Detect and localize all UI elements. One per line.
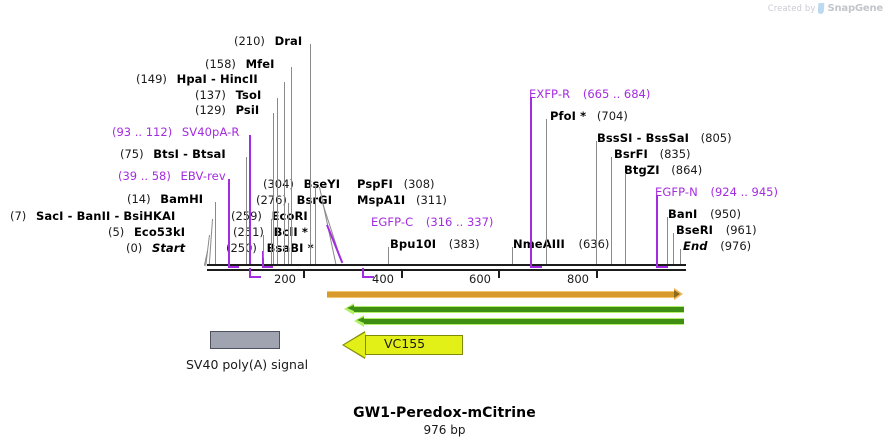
feature-name: EXFP-R (529, 87, 570, 101)
enzyme-position: (5) (108, 225, 124, 239)
enzyme-name: BtsI - BtsaI (153, 147, 226, 161)
feature-position: (316 .. 337) (426, 215, 494, 229)
ruler-label-200: 200 (274, 272, 296, 286)
marker-name: Start (152, 241, 185, 255)
enzyme-position: (704) (597, 109, 628, 123)
enzyme-position: (158) (205, 57, 236, 71)
marker-position: (976) (720, 239, 751, 253)
leader-line-PfoI (546, 119, 547, 266)
enzyme-label-HpaI-HincII[interactable]: (149) HpaI - HincII (136, 73, 258, 85)
feature-bracket-SV40pA-R[interactable] (249, 268, 261, 278)
ruler-tick-200 (303, 271, 305, 278)
enzyme-position: (961) (726, 223, 757, 237)
feature-label-EBV-rev[interactable]: (39 .. 58) EBV-rev (118, 170, 226, 182)
leader-line-MfeI (291, 67, 292, 266)
snapgene-logo-icon (818, 3, 825, 14)
feature-name: EBV-rev (181, 169, 226, 183)
leader-line-BsrFI (611, 157, 612, 266)
feature-position: (924 .. 945) (710, 185, 778, 199)
ruler-tick-400 (401, 271, 403, 278)
leader-line-EBV-rev (228, 179, 230, 266)
orange-primer-arrowhead-inner (674, 290, 680, 298)
enzyme-name: DraI (275, 34, 303, 48)
feature-bracket-EBV-rev[interactable] (228, 258, 239, 268)
feature-position: (665 .. 684) (583, 87, 651, 101)
enzyme-label-BtsI-BtsaI[interactable]: (75) BtsI - BtsaI (120, 148, 226, 160)
enzyme-label-NmeAIII[interactable]: NmeAIII (636) (513, 238, 609, 250)
enzyme-name: BamHI (160, 192, 203, 206)
enzyme-name: BssSI - BssSaI (597, 131, 689, 145)
enzyme-name: Bpu10I (390, 237, 436, 251)
enzyme-name: Eco53kI (134, 225, 185, 239)
ruler-label-600: 600 (469, 272, 491, 286)
enzyme-name: BanI (668, 207, 697, 221)
enzyme-label-BanI[interactable]: BanI (950) (668, 208, 741, 220)
legend-label-sv40-polya: SV40 poly(A) signal (186, 357, 308, 372)
enzyme-position: (383) (449, 237, 480, 251)
marker-position: (0) (126, 241, 142, 255)
leader-line-HpaI (284, 82, 285, 266)
feature-label-EGFP-N[interactable]: EGFP-N (924 .. 945) (655, 186, 778, 198)
feature-bracket-EXFP-R[interactable] (530, 258, 542, 268)
enzyme-label-Eco53kI[interactable]: (5) Eco53kI (108, 226, 185, 238)
enzyme-label-BssSI-BssSaI[interactable]: BssSI - BssSaI (805) (597, 132, 732, 144)
green-primer-arrowhead-2-inner (357, 317, 364, 323)
leader-line-TsoI (277, 98, 278, 266)
enzyme-name: TsoI (236, 88, 262, 102)
enzyme-name: NmeAIII (513, 237, 565, 251)
enzyme-position: (835) (660, 147, 691, 161)
legend-swatch-sv40-polya[interactable] (210, 331, 280, 349)
enzyme-position: (304) (263, 177, 294, 191)
feature-position: (93 .. 112) (112, 125, 172, 139)
feature-bracket-EGFP-C[interactable] (362, 268, 374, 278)
enzyme-label-MspA1I[interactable]: MspA1I (311) (357, 194, 447, 206)
leader-line-EGFP-N (656, 195, 658, 266)
orange-primer-arrow[interactable] (327, 291, 675, 298)
plasmid-length-label: 976 bp (0, 423, 889, 437)
enzyme-name: BsrFI (614, 147, 648, 161)
enzyme-position: (75) (120, 147, 144, 161)
leader-line-BssSI (596, 141, 597, 266)
enzyme-label-BamHI[interactable]: (14) BamHI (127, 193, 203, 205)
enzyme-position: (250) (226, 241, 257, 255)
ruler-tick-600 (498, 271, 500, 278)
enzyme-label-EcoRI[interactable]: (259) EcoRI (231, 210, 308, 222)
leader-line-BseRI (673, 233, 674, 266)
backbone-line-top (207, 264, 686, 266)
plasmid-map-canvas: Created by SnapGene (210) DraI (158) Mfe… (0, 0, 889, 445)
enzyme-name: SacI - BanII - BsiHKAI (36, 209, 175, 223)
ruler-label-800: 800 (567, 272, 589, 286)
enzyme-label-SacI-BanII-BsiHKAI[interactable]: (7) SacI - BanII - BsiHKAI (10, 210, 175, 222)
green-primer-arrow-2[interactable] (364, 318, 684, 325)
page-title: GW1-Peredox-mCitrine (0, 405, 889, 421)
enzyme-position: (864) (671, 163, 702, 177)
enzyme-label-DraI[interactable]: (210) DraI (234, 35, 302, 47)
ruler-tick-800 (596, 271, 598, 278)
marker-name: End (683, 239, 708, 253)
enzyme-position: (311) (416, 193, 447, 207)
leader-line-BtgZI (625, 173, 626, 266)
enzyme-position: (210) (234, 34, 265, 48)
leader-line-BtsI (246, 157, 247, 266)
enzyme-position: (7) (10, 209, 26, 223)
enzyme-label-TsoI[interactable]: (137) TsoI (195, 89, 261, 101)
snapgene-watermark: Created by SnapGene (768, 3, 883, 14)
enzyme-position: (805) (701, 131, 732, 145)
enzyme-name: MfeI (246, 57, 275, 71)
enzyme-position: (14) (127, 192, 151, 206)
leader-line-EXFP-R (530, 97, 532, 266)
vc155-gene-label: VC155 (384, 336, 425, 351)
vc155-arrowhead (344, 332, 366, 358)
enzyme-label-BsaBI[interactable]: (250) BsaBI * (226, 242, 314, 254)
leader-line-BseYI (315, 187, 316, 266)
feature-name: EGFP-N (655, 185, 698, 199)
leader-line-PsiI (273, 113, 274, 266)
feature-bracket-BsaBI-region[interactable] (262, 258, 273, 268)
enzyme-name: PsiI (236, 103, 260, 117)
feature-label-SV40pA-R[interactable]: (93 .. 112) SV40pA-R (112, 126, 240, 138)
green-primer-arrowhead-1-inner (347, 305, 354, 311)
enzyme-name: MspA1I (357, 193, 405, 207)
marker-label-Start[interactable]: (0) Start (126, 242, 185, 254)
enzyme-position: (950) (710, 207, 741, 221)
green-primer-arrow-1[interactable] (354, 306, 684, 313)
feature-name: SV40pA-R (182, 125, 240, 139)
leader-line-SV40pA-R (249, 135, 251, 266)
enzyme-label-MfeI[interactable]: (158) MfeI (205, 58, 275, 70)
enzyme-label-BseYI[interactable]: (304) BseYI (263, 178, 340, 190)
enzyme-label-PfoI[interactable]: PfoI * (704) (550, 110, 628, 122)
watermark-brand-text: SnapGene (827, 3, 883, 14)
enzyme-name: PfoI * (550, 109, 586, 123)
leader-line-DraI (310, 44, 311, 266)
leader-line-BamHI (215, 202, 216, 266)
enzyme-name: BseRI (676, 223, 713, 237)
enzyme-label-PsiI[interactable]: (129) PsiI (195, 104, 259, 116)
enzyme-label-BseRI[interactable]: BseRI (961) (676, 224, 757, 236)
enzyme-position: (636) (579, 237, 610, 251)
feature-name: EGFP-C (371, 215, 413, 229)
ruler-label-400: 400 (372, 272, 394, 286)
leader-line-BsrGI (288, 203, 289, 266)
enzyme-label-BsrFI[interactable]: BsrFI (835) (614, 148, 691, 160)
marker-label-End[interactable]: End (976) (683, 240, 751, 252)
leader-line-SacI (209, 219, 213, 266)
enzyme-label-Bpu10I[interactable]: Bpu10I (383) (390, 238, 480, 250)
enzyme-position: (129) (195, 103, 226, 117)
feature-label-EGFP-C[interactable]: EGFP-C (316 .. 337) (371, 216, 493, 228)
enzyme-position: (149) (136, 72, 167, 86)
feature-label-EXFP-R[interactable]: EXFP-R (665 .. 684) (529, 88, 650, 100)
watermark-created-by-text: Created by (768, 4, 816, 14)
enzyme-name: PspFI (357, 177, 393, 191)
enzyme-position: (276) (256, 193, 287, 207)
enzyme-label-PspFI[interactable]: PspFI (308) (357, 178, 435, 190)
enzyme-name: HpaI - HincII (177, 72, 258, 86)
enzyme-position: (308) (404, 177, 435, 191)
enzyme-position: (137) (195, 88, 226, 102)
enzyme-name: BtgZI (624, 163, 660, 177)
backbone-line-bottom (207, 269, 686, 271)
enzyme-label-BtgZI[interactable]: BtgZI (864) (624, 164, 702, 176)
feature-position: (39 .. 58) (118, 169, 171, 183)
feature-bracket-EGFP-N[interactable] (656, 258, 668, 268)
